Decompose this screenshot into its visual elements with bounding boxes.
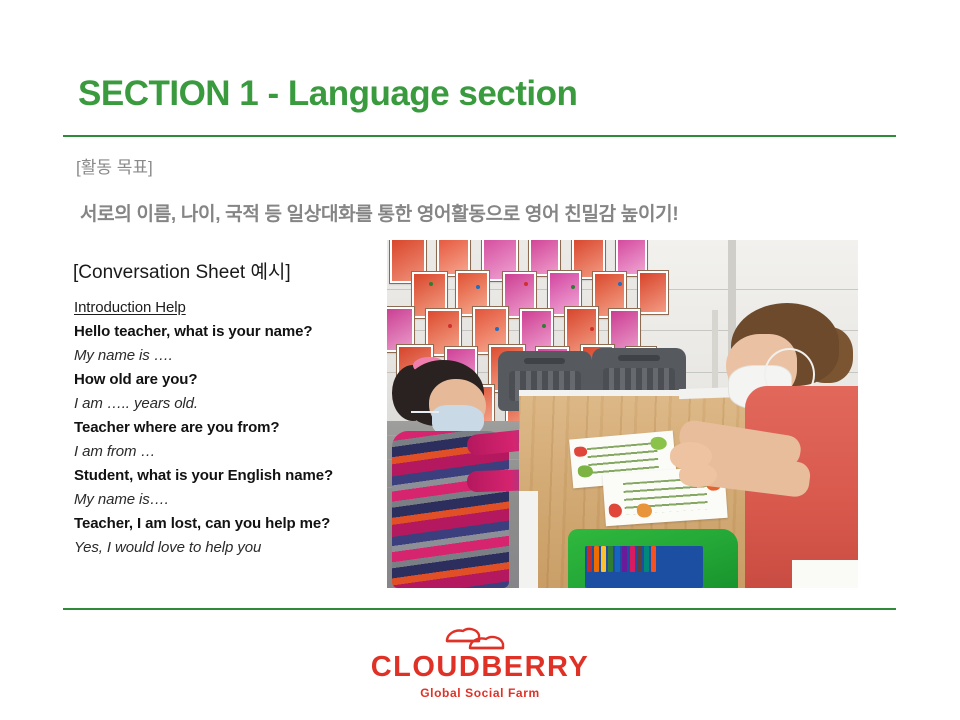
sheet-line: I am from … xyxy=(74,440,374,464)
conversation-sheet: Introduction Help Hello teacher, what is… xyxy=(74,296,374,560)
divider-top xyxy=(63,135,896,137)
sheet-line: Yes, I would love to help you xyxy=(74,536,374,560)
photo-marker-pack xyxy=(585,546,703,588)
slide-canvas: SECTION 1 - Language section [활동 목표] 서로의… xyxy=(0,0,960,720)
sheet-line: Introduction Help xyxy=(74,296,374,320)
sheet-line: My name is …. xyxy=(74,344,374,368)
sheet-line: My name is…. xyxy=(74,488,374,512)
logo-tagline: Global Social Farm xyxy=(0,686,960,700)
sheet-line: How old are you? xyxy=(74,368,374,392)
sheet-line: Student, what is your English name? xyxy=(74,464,374,488)
cloud-icon xyxy=(444,625,516,651)
sheet-line: Teacher where are you from? xyxy=(74,416,374,440)
page-title: SECTION 1 - Language section xyxy=(78,74,577,114)
divider-bottom xyxy=(63,608,896,610)
sheet-line: Hello teacher, what is your name? xyxy=(74,320,374,344)
objective-text: 서로의 이름, 나이, 국적 등 일상대화를 통한 영어활동으로 영어 친밀감 … xyxy=(80,199,678,226)
objective-label: [활동 목표] xyxy=(76,153,153,178)
sheet-line: I am ….. years old. xyxy=(74,392,374,416)
classroom-photo xyxy=(387,240,858,588)
sheet-line: Teacher, I am lost, can you help me? xyxy=(74,512,374,536)
photo-child xyxy=(392,431,510,588)
photo-content xyxy=(387,240,858,588)
cloudberry-logo: CLOUDBERRY Global Social Farm xyxy=(0,625,960,700)
logo-wordmark: CLOUDBERRY xyxy=(0,653,960,682)
conversation-sheet-caption: [Conversation Sheet 예시] xyxy=(73,257,291,284)
